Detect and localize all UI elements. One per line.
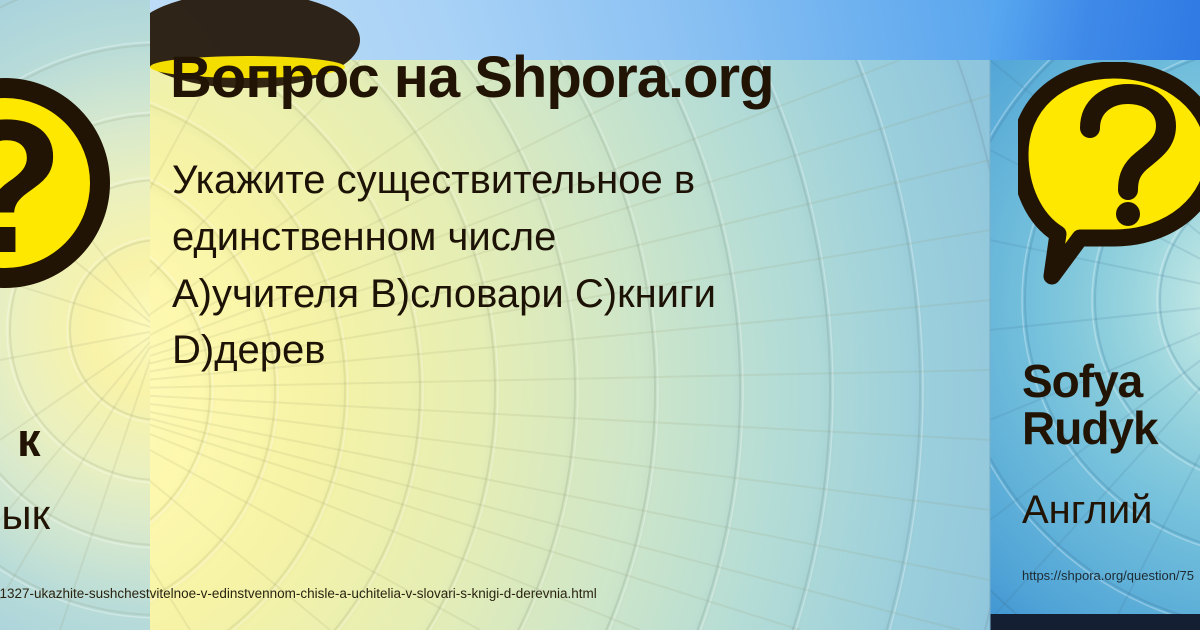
left-subject-label: йский язык	[0, 492, 50, 538]
panel-divider	[989, 60, 991, 630]
right-bottom-bar	[990, 614, 1200, 630]
right-author-name-line: Rudyk	[1022, 405, 1200, 452]
question-url[interactable]: 71327-ukazhite-sushchestvitelnoe-v-edins…	[0, 586, 597, 601]
question-speech-bubble-icon	[1018, 62, 1200, 287]
right-author-name-line: Sofya	[1022, 358, 1200, 405]
bubble-question-dot	[1116, 202, 1140, 226]
question-line: Укажите существительное в	[172, 152, 942, 209]
right-question-url[interactable]: https://shpora.org/question/75	[1022, 568, 1194, 583]
left-author-name: к	[0, 415, 40, 465]
speech-bubble-svg	[1018, 62, 1200, 287]
right-author-name: Sofya Rudyk	[1022, 358, 1200, 453]
question-line: A)учителя B)словари C)книги	[172, 266, 942, 323]
question-mark-glyph: ?	[0, 92, 64, 282]
page-title: Вопрос на Shpora.org	[170, 44, 774, 111]
question-text: Укажите существительное в единственном ч…	[172, 152, 942, 379]
right-top-blue-strip	[990, 0, 1200, 60]
shpora-question-card: Вопрос на Shpora.org Укажите существител…	[0, 0, 1200, 630]
question-line: единственном числе	[172, 209, 942, 266]
question-line: D)дерев	[172, 322, 942, 379]
right-subject-label: Англий	[1022, 488, 1200, 532]
